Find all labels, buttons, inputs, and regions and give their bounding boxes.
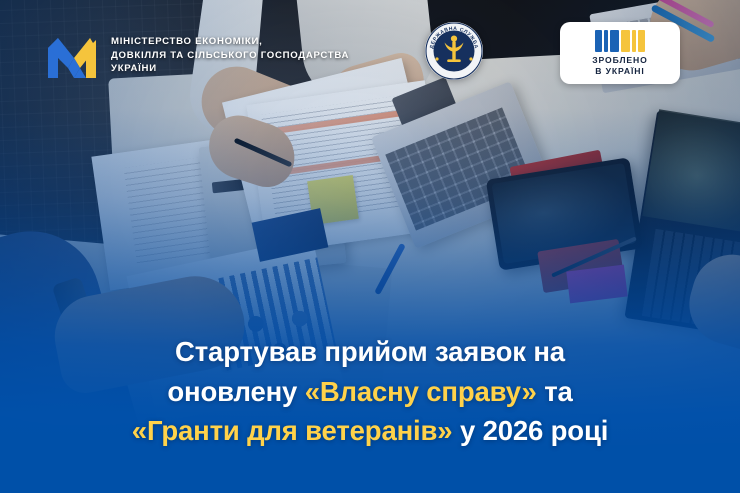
made-in-ukraine-badge-icon: ЗРОБЛЕНО В УКРАЇНІ — [560, 22, 680, 84]
ministry-m-logo-icon — [44, 26, 101, 81]
headline-highlight-hranty-dlia-veteraniv: «Гранти для ветеранів» — [132, 415, 453, 446]
made-in-ukraine-line-2: В УКРАЇНІ — [592, 66, 648, 77]
state-employment-service-emblem-icon: ДЕРЖАВНА СЛУЖБА ЗАЙНЯТОСТІ — [424, 21, 484, 81]
ministry-lockup: МІНІСТЕРСТВО ЕКОНОМІКИ, ДОВКІЛЛЯ ТА СІЛЬ… — [44, 26, 349, 81]
headline-line-3: «Гранти для ветеранів» у 2026 році — [0, 411, 740, 451]
made-in-ukraine-text: ЗРОБЛЕНО В УКРАЇНІ — [592, 55, 648, 77]
made-in-ukraine-bars — [595, 30, 645, 52]
banner-header: МІНІСТЕРСТВО ЕКОНОМІКИ, ДОВКІЛЛЯ ТА СІЛЬ… — [0, 0, 740, 100]
headline-line-2: оновлену «Власну справу» та — [0, 372, 740, 412]
headline-highlight-vlasna-sprava: «Власну справу» — [305, 376, 537, 407]
headline-line-2-suffix: та — [537, 376, 573, 407]
headline-line-2-prefix: оновлену — [167, 376, 304, 407]
headline-line-3-suffix: у 2026 році — [452, 415, 608, 446]
made-in-ukraine-line-1: ЗРОБЛЕНО — [592, 55, 648, 66]
ministry-title-line-3: УКРАЇНИ — [111, 62, 349, 76]
ministry-title-line-1: МІНІСТЕРСТВО ЕКОНОМІКИ, — [111, 35, 349, 49]
ministry-title-line-2: ДОВКІЛЛЯ ТА СІЛЬСЬКОГО ГОСПОДАРСТВА — [111, 49, 349, 63]
promo-banner: МІНІСТЕРСТВО ЕКОНОМІКИ, ДОВКІЛЛЯ ТА СІЛЬ… — [0, 0, 740, 493]
headline: Стартував прийом заявок на оновлену «Вла… — [0, 332, 740, 451]
headline-line-1: Стартував прийом заявок на — [0, 332, 740, 372]
ministry-title: МІНІСТЕРСТВО ЕКОНОМІКИ, ДОВКІЛЛЯ ТА СІЛЬ… — [111, 26, 349, 76]
